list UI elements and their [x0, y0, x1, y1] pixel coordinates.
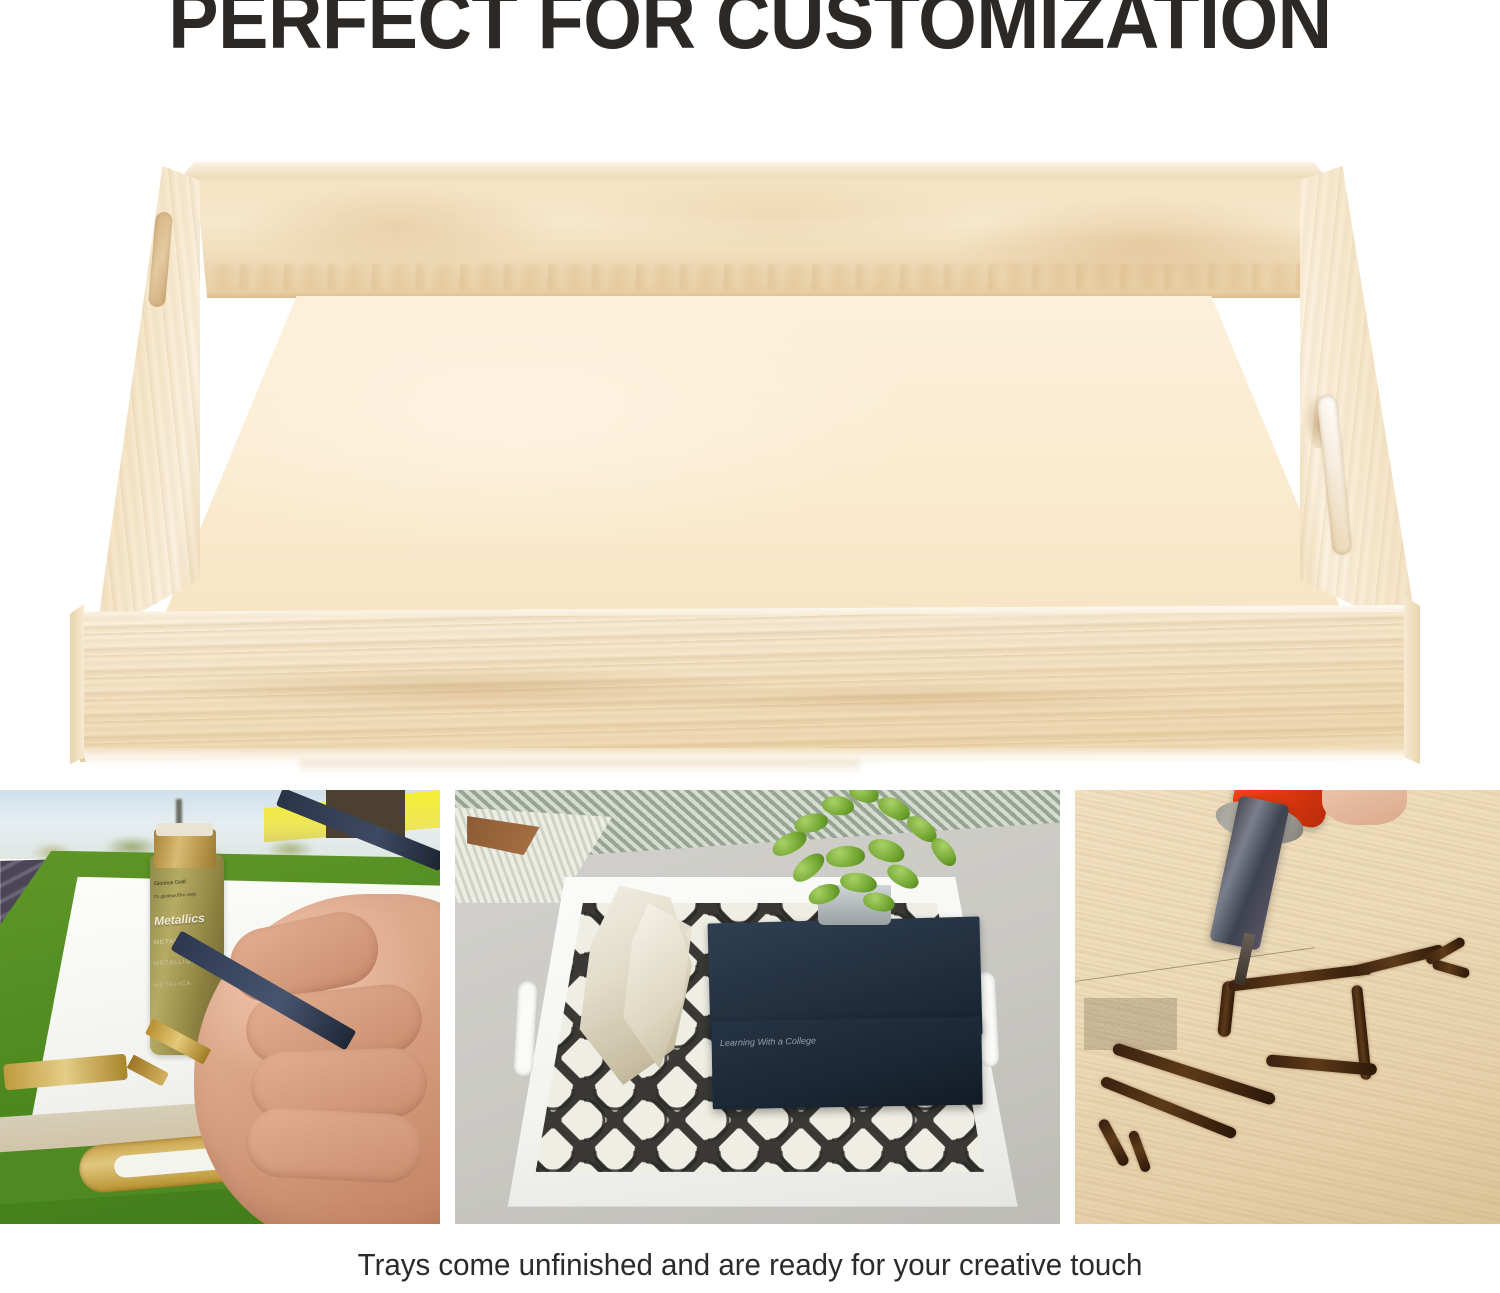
gallery-photo-wood-burning: [1075, 790, 1500, 1224]
leaf: [927, 834, 961, 870]
gallery-photo-stenciled-tray: Learning With a College: [455, 790, 1060, 1224]
gallery-photo-painting-tray-gold: Glorious Gold Or glorieux/Oro viejo Meta…: [0, 790, 440, 1224]
tray-left-corner-edge: [70, 604, 84, 764]
leaf: [866, 835, 907, 866]
usage-photo-gallery: Glorious Gold Or glorieux/Oro viejo Meta…: [0, 790, 1500, 1224]
paint-bottle-cap-top: [156, 823, 213, 836]
tray-floor: [160, 296, 1348, 626]
leaf: [839, 870, 878, 894]
leaf: [788, 848, 828, 886]
leaf: [821, 794, 855, 816]
leaf: [862, 890, 897, 914]
tray-right-corner-edge: [1404, 596, 1420, 764]
gallery-caption: Trays come unfinished and are ready for …: [38, 1245, 1463, 1289]
leaf: [793, 810, 830, 834]
burn-stroke: [1127, 1129, 1151, 1172]
burned-branch-design: [1075, 790, 1500, 1224]
leaf: [826, 845, 866, 868]
burn-stroke: [1096, 1118, 1130, 1168]
tray-left-wall: [96, 166, 200, 636]
burn-stroke: [1431, 959, 1470, 979]
hero-product-image: [0, 100, 1500, 720]
tray-front-wall: [72, 612, 1420, 762]
page-headline: PERFECT FOR CUSTOMIZATION: [60, 0, 1440, 70]
leaf: [884, 860, 923, 894]
tray-surface-reflection: [300, 760, 860, 774]
finger: [245, 1107, 424, 1186]
tray-back-wall-inner: [196, 178, 1311, 298]
leaf: [806, 880, 842, 908]
bottom-book: [711, 1017, 982, 1110]
thumb: [1322, 790, 1407, 825]
green-boxwood-plant: [758, 790, 988, 929]
wooden-tray-illustration: [0, 100, 1500, 720]
stacked-vintage-books: Learning With a College: [709, 920, 981, 1111]
